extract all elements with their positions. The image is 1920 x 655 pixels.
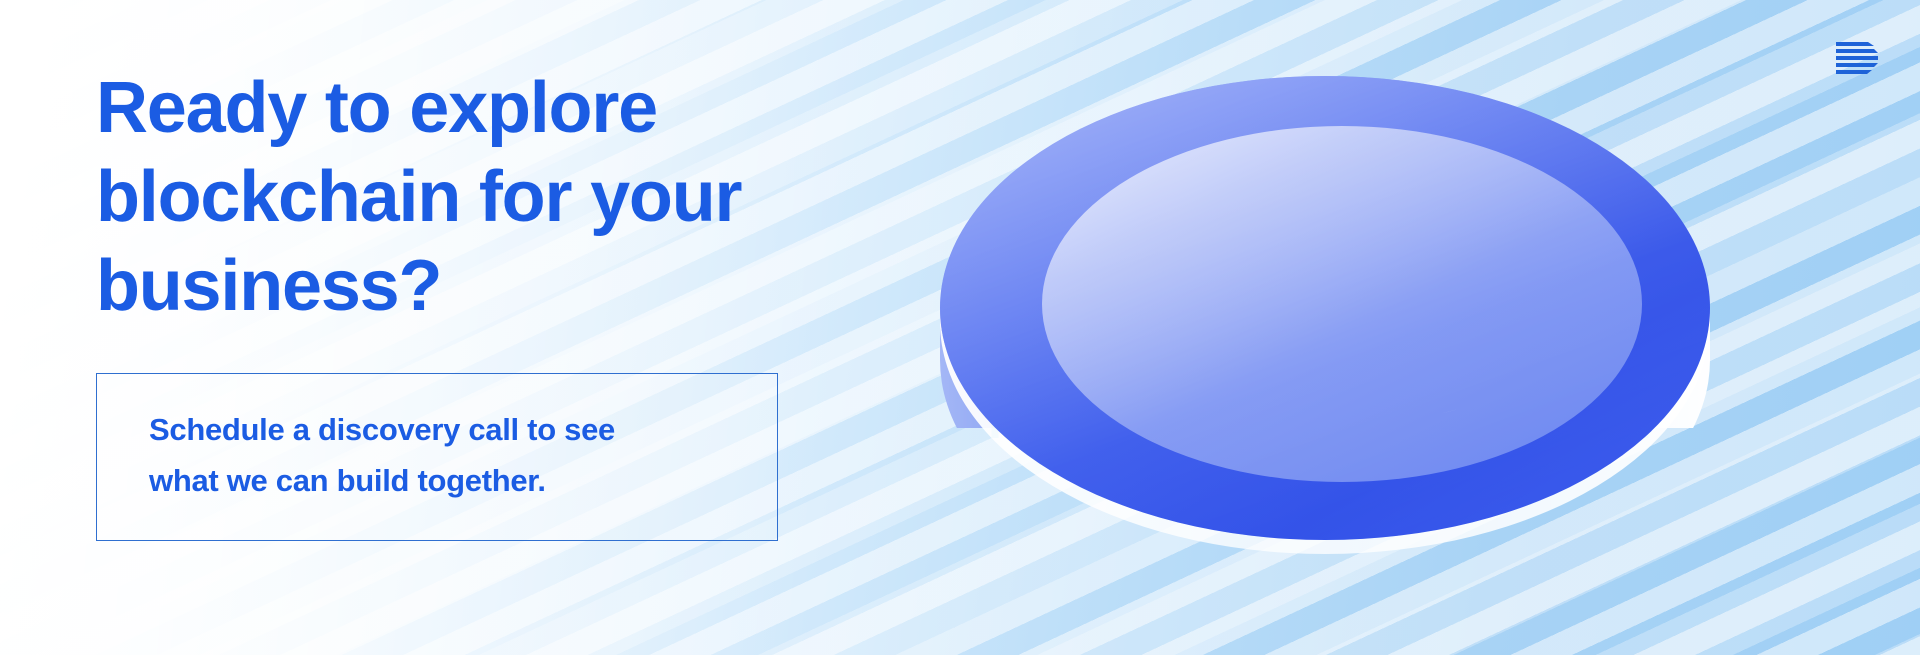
striped-arrow-logo[interactable] (1834, 38, 1880, 82)
page-title: Ready to explore blockchain for your bus… (96, 64, 796, 331)
cta-banner: Ready to explore blockchain for your bus… (0, 0, 1920, 655)
banner-copy: Ready to explore blockchain for your bus… (96, 64, 796, 541)
cta-box[interactable]: Schedule a discovery call to see what we… (96, 373, 778, 541)
bitcoin-coin-3d (900, 8, 1750, 648)
coin-top-sheen (940, 76, 1710, 540)
striped-arrow-icon (1834, 38, 1880, 82)
cta-text: Schedule a discovery call to see what we… (149, 404, 725, 506)
